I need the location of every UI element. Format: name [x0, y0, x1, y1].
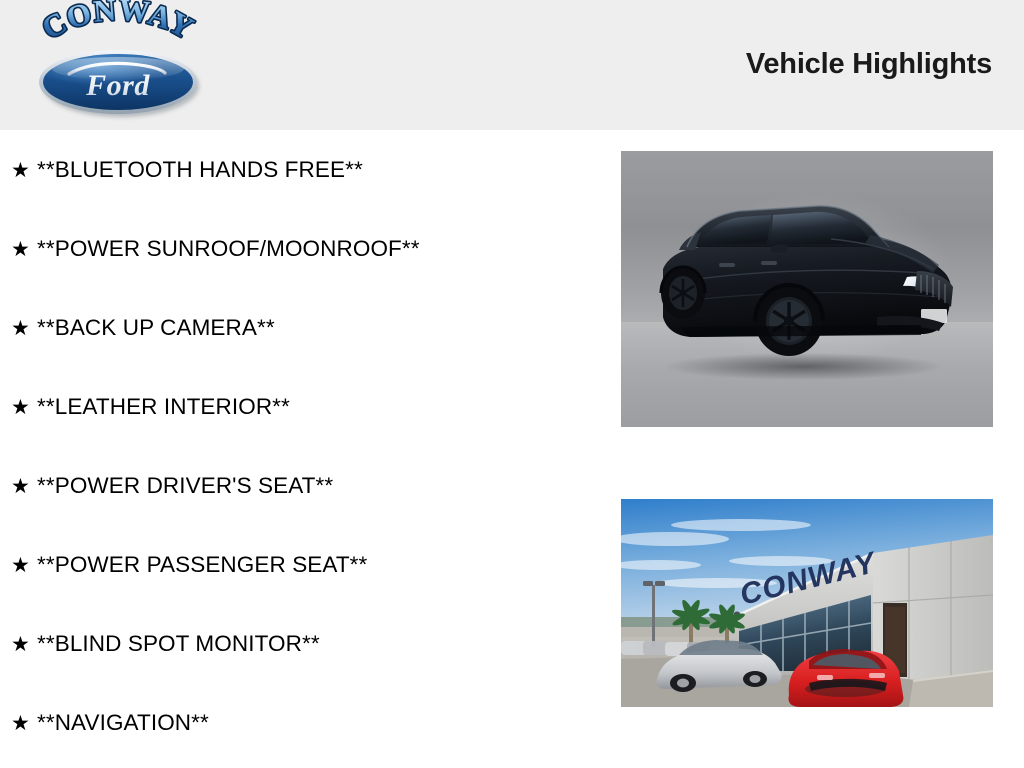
star-icon: ★	[11, 476, 37, 497]
list-item-label: **LEATHER INTERIOR**	[37, 394, 290, 420]
star-icon: ★	[11, 160, 37, 181]
page-title: Vehicle Highlights	[746, 48, 992, 81]
list-item-label: **POWER SUNROOF/MOONROOF**	[37, 236, 420, 262]
list-item: ★ **BLUETOOTH HANDS FREE**	[11, 153, 363, 187]
vehicle-photo[interactable]	[621, 151, 993, 427]
list-item-label: **NAVIGATION**	[37, 710, 209, 736]
star-icon: ★	[11, 713, 37, 734]
list-item: ★ **LEATHER INTERIOR**	[11, 390, 290, 424]
dealership-photo[interactable]: CONWAY	[621, 499, 993, 707]
page-header: CONWAY CONWAY	[0, 0, 1024, 130]
list-item-label: **BLIND SPOT MONITOR**	[37, 631, 320, 657]
star-icon: ★	[11, 239, 37, 260]
list-item: ★ **BLIND SPOT MONITOR**	[11, 627, 320, 661]
list-item: ★ **POWER PASSENGER SEAT**	[11, 548, 367, 582]
black-sedan-illustration	[621, 151, 993, 427]
star-icon: ★	[11, 634, 37, 655]
star-icon: ★	[11, 555, 37, 576]
star-icon: ★	[11, 397, 37, 418]
conway-ford-logo[interactable]: CONWAY CONWAY	[25, 14, 211, 117]
list-item: ★ **NAVIGATION**	[11, 706, 209, 740]
list-item-label: **POWER PASSENGER SEAT**	[37, 552, 367, 578]
svg-text:CONWAY: CONWAY	[36, 0, 200, 46]
list-item-label: **POWER DRIVER'S SEAT**	[37, 473, 333, 499]
list-item-label: **BLUETOOTH HANDS FREE**	[37, 157, 363, 183]
list-item: ★ **POWER DRIVER'S SEAT**	[11, 469, 333, 503]
star-icon: ★	[11, 318, 37, 339]
svg-text:Ford: Ford	[85, 69, 150, 102]
list-item: ★ **POWER SUNROOF/MOONROOF**	[11, 232, 420, 266]
dealership-exterior-illustration: CONWAY	[621, 499, 993, 707]
list-item: ★ **BACK UP CAMERA**	[11, 311, 275, 345]
vehicle-highlights-list: ★ **BLUETOOTH HANDS FREE** ★ **POWER SUN…	[0, 130, 600, 768]
list-item-label: **BACK UP CAMERA**	[37, 315, 275, 341]
ford-script-text: Ford	[43, 54, 193, 110]
ford-oval-emblem: Ford	[39, 50, 199, 116]
